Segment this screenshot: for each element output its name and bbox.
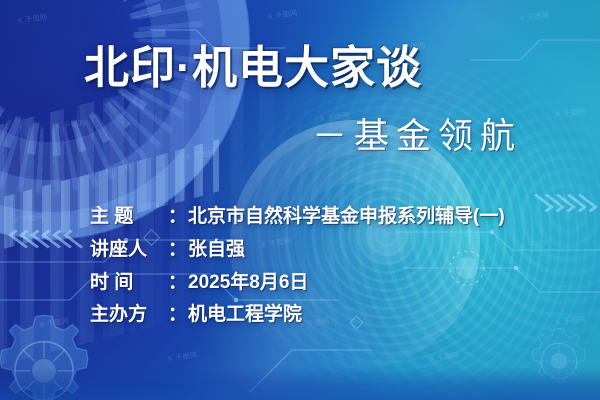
detail-label-organizer: 主办方 [90,303,168,327]
detail-value-speaker: 张自强 [188,238,245,262]
detail-separator-speaker: ： [168,238,187,262]
detail-row-speaker: 讲座人 ： 张自强 [90,238,505,262]
detail-value-topic: 北京市自然科学基金申报系列辅导(一) [188,205,505,229]
detail-row-organizer: 主办方 ： 机电工程学院 [90,303,505,327]
detail-label-speaker: 讲座人 [90,238,168,262]
poster-title: 北印·机电大家谈 [84,44,422,92]
detail-value-datetime: 2025年8月6日 [188,271,308,295]
poster-content: 北印·机电大家谈 －基金领航 主 题 ： 北京市自然科学基金申报系列辅导(一) … [0,0,600,400]
poster-details-list: 主 题 ： 北京市自然科学基金申报系列辅导(一) 讲座人 ： 张自强 时 间 ：… [90,205,505,327]
event-poster: K 千图网 K 千图网 K 千图网 K 千图网 K 千图网 K 千图网 K 千图… [0,0,600,400]
detail-separator-organizer: ： [168,303,187,327]
detail-label-topic: 主 题 [90,205,168,229]
detail-separator-topic: ： [168,205,187,229]
detail-separator-datetime: ： [168,271,187,295]
detail-row-topic: 主 题 ： 北京市自然科学基金申报系列辅导(一) [90,205,505,229]
detail-value-organizer: 机电工程学院 [188,303,302,327]
detail-row-datetime: 时 间 ： 2025年8月6日 [90,271,505,295]
detail-label-datetime: 时 间 [90,271,168,295]
poster-subtitle: －基金领航 [312,118,522,157]
